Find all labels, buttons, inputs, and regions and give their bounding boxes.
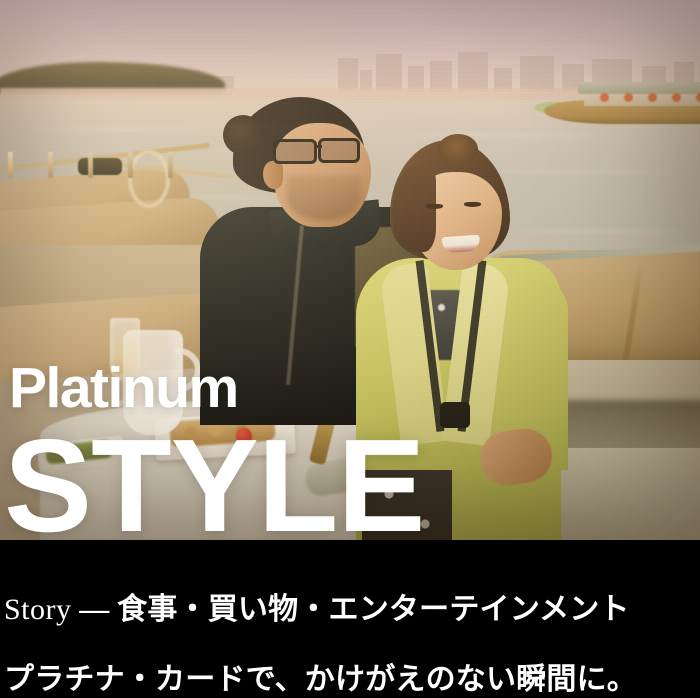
boat-lantern [648, 93, 657, 102]
boat-lantern [696, 93, 700, 102]
yakatabune-boat [530, 78, 700, 126]
man-beard-shadow [287, 175, 361, 221]
lens-flare-ring [128, 150, 170, 208]
eyeglasses-bridge [315, 145, 322, 148]
girl-figure [368, 140, 558, 540]
caption-bar: Story — 食事・買い物・エンターテインメント プラチナ・カードで、かけがえ… [0, 540, 700, 698]
girl-eye [426, 204, 443, 209]
railing-stanchion [128, 152, 133, 178]
caption-line-1: Story — 食事・買い物・エンターテインメント [4, 584, 700, 628]
railing-stanchion [88, 152, 93, 178]
boat-lantern [624, 93, 633, 102]
wave-streak [400, 134, 600, 137]
hero-photo [0, 0, 700, 540]
man-ear [263, 161, 283, 189]
caption-story-label: Story [4, 593, 72, 626]
skyline-building [338, 58, 358, 92]
girl-hair-bun [438, 134, 478, 164]
deck-cleat [78, 158, 122, 175]
caption-line-2: プラチナ・カードで、かけがえのない瞬間に。 [4, 654, 700, 698]
skyline-building [458, 52, 488, 92]
caption-categories: 食事・買い物・エンターテインメント [117, 593, 630, 626]
railing-stanchion [48, 152, 53, 178]
hero-banner: Platinum STYLE Story — 食事・買い物・エンターテインメント… [0, 0, 700, 698]
boat-lantern [672, 93, 681, 102]
boat-lantern [600, 93, 609, 102]
eyeglasses-icon [273, 139, 317, 164]
man-hair-bun [223, 115, 263, 155]
boat-roof [578, 82, 700, 94]
champagne-flute [110, 318, 140, 380]
caption-dash: — [72, 593, 118, 626]
wave-streak [30, 128, 200, 131]
flute-stem [123, 380, 127, 402]
girl-eye [464, 202, 481, 207]
flute-base [113, 400, 137, 406]
strawberry-garnish [236, 428, 252, 446]
life-vest-buckle [440, 402, 470, 428]
railing-stanchion [168, 152, 173, 178]
eyeglasses-icon [318, 138, 360, 163]
railing-stanchion [8, 152, 13, 178]
skyline-building [376, 54, 402, 92]
girl-hair-front [392, 166, 436, 252]
girl-floral-skirt [362, 470, 452, 540]
